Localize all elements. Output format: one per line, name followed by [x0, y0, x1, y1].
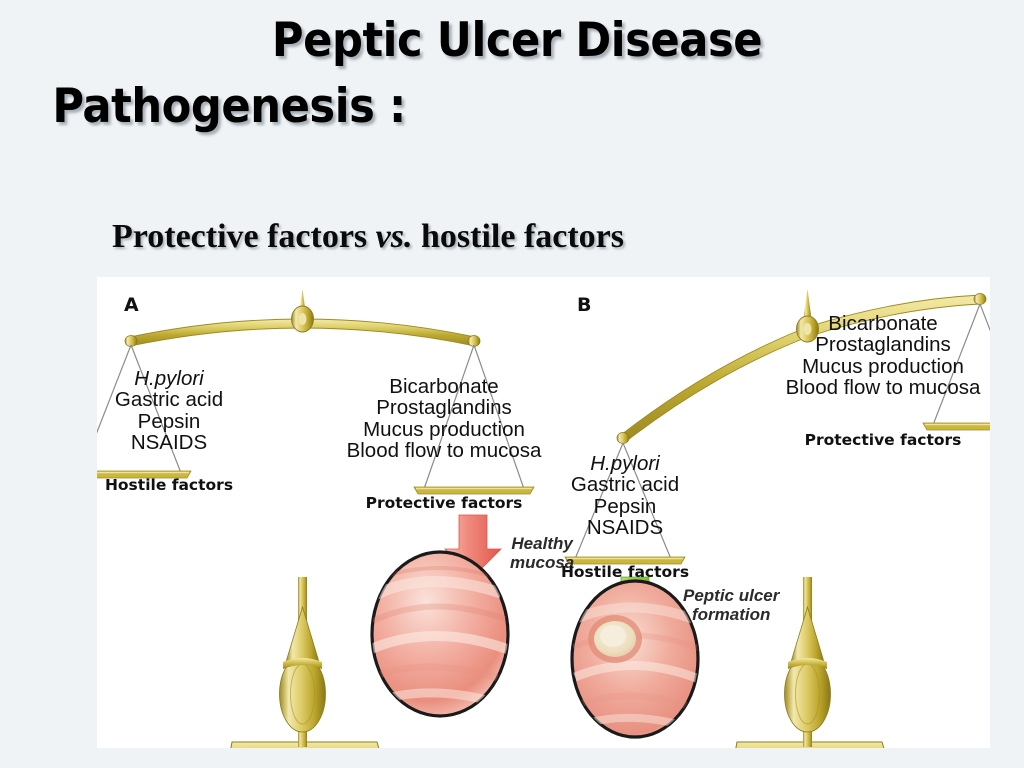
page-title: Peptic Ulcer Disease Pathogenesis : [0, 14, 1024, 134]
panel-b-protective-item-3: Blood flow to mucosa [776, 377, 990, 398]
peptic-ulcer-label-line2: formation [683, 606, 779, 625]
peptic-ulcer-label: Peptic ulcer formation [683, 587, 779, 624]
panel-a-hostile-item-2: Pepsin [97, 411, 247, 432]
panel-b-hostile-item-0: H.pylori [547, 453, 703, 474]
healthy-mucosa-circle [371, 552, 508, 716]
title-line-2: Pathogenesis : [10, 80, 943, 134]
panel-b-protective-factors-list: Bicarbonate Prostaglandins Mucus product… [776, 313, 990, 398]
peptic-ulcer-label-line1: Peptic ulcer [683, 587, 779, 606]
panel-b-hostile-item-2: Pepsin [547, 496, 703, 517]
panel-b-hostile-factors-list: H.pylori Gastric acid Pepsin NSAIDS [547, 453, 703, 538]
subtitle-text-before: Protective factors [112, 218, 376, 255]
title-line-1: Peptic Ulcer Disease [51, 14, 984, 68]
panel-a-hostile-caption: Hostile factors [97, 478, 247, 494]
panel-b-hostile-item-1: Gastric acid [547, 474, 703, 495]
subtitle-versus: vs. [376, 218, 413, 255]
panel-a-hostile-factors-list: H.pylori Gastric acid Pepsin NSAIDS [97, 368, 247, 453]
panel-a-letter: A [124, 296, 139, 315]
subtitle-text-after: hostile factors [413, 218, 625, 255]
panel-a-protective-caption: Protective factors [337, 496, 551, 512]
panel-a-hostile-item-3: NSAIDS [97, 432, 247, 453]
panel-b-protective-item-1: Prostaglandins [776, 334, 990, 355]
panel-a-protective-item-2: Mucus production [337, 419, 551, 440]
scale-panel-a [97, 289, 534, 748]
panel-a-hostile-item-1: Gastric acid [97, 389, 247, 410]
peptic-ulcer-circle [572, 581, 701, 737]
figure-panel: A H.pylori Gastric acid Pepsin NSAIDS Ho… [97, 277, 990, 748]
panel-b-protective-item-0: Bicarbonate [776, 313, 990, 334]
slide-subtitle: Protective factors vs. hostile factors [112, 218, 624, 256]
panel-b-hostile-item-3: NSAIDS [547, 517, 703, 538]
panel-b-protective-caption: Protective factors [776, 433, 990, 449]
panel-b-protective-item-2: Mucus production [776, 356, 990, 377]
panel-a-protective-factors-list: Bicarbonate Prostaglandins Mucus product… [337, 376, 551, 461]
panel-b-letter: B [577, 296, 591, 315]
panel-b-hostile-caption: Hostile factors [547, 565, 703, 581]
panel-a-protective-item-1: Prostaglandins [337, 397, 551, 418]
panel-a-protective-item-3: Blood flow to mucosa [337, 440, 551, 461]
panel-a-hostile-item-0: H.pylori [97, 368, 247, 389]
panel-a-protective-item-0: Bicarbonate [337, 376, 551, 397]
